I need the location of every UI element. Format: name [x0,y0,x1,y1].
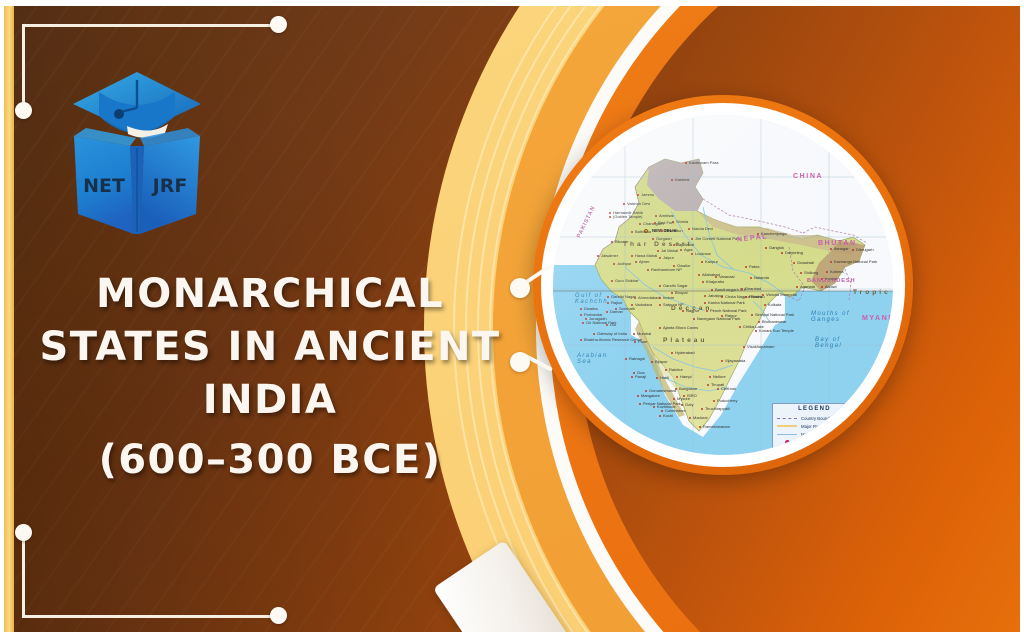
map-city-marker [609,216,611,218]
map-city-marker [580,314,582,316]
map-country-label: CHINA [793,173,823,180]
map-city-marker [683,395,685,397]
map-city-marker [623,203,625,205]
map-city-marker [689,417,691,419]
map-city-marker [582,322,584,324]
map-city-marker [661,230,663,232]
legend-heading: LEGEND [776,406,853,412]
map-city-marker [693,318,695,320]
map-city-label: Mumbai [637,331,651,336]
map-city-label: Madurai [693,415,707,420]
map-city-marker [593,333,595,335]
map-city-marker [781,252,783,254]
map-city-label: Agra [684,247,692,252]
map-city-label: Taj Mahal [677,242,694,247]
map-city-label: Ooty [685,402,693,407]
map-region-label: Thar Desert [623,241,693,248]
map-city-label: Lucknow [695,251,711,256]
map-city-marker [585,318,587,320]
map-city-label: Jaisalmer [601,253,618,258]
map-city-label: Hampi [680,374,692,379]
map-city-label: Visakhapatnam [747,344,775,349]
map-city-label: Bhubaneswar [762,319,786,324]
map-city-marker [711,289,713,291]
map-city-marker [647,269,649,271]
map-city-label: Karakoram Pass [689,160,719,165]
map-country-label: BHUTAN [818,240,857,247]
map-city-label: Itanagar [834,246,849,251]
map-city-label: Ajmer [639,259,649,264]
map-city-marker [721,360,723,362]
map-capital-marker [644,229,648,233]
map-city-marker [707,384,709,386]
map-city-marker [607,296,609,298]
map-sea-label: Bay of Bengal [815,337,859,349]
page-title: MONARCHICAL STATES IN ANCIENT INDIA (600… [18,268,522,487]
title-line-2: STATES IN ANCIENT [18,321,522,374]
map-city-label: Bikaner [615,239,629,244]
map-city-marker [659,257,661,259]
map-city-marker [639,223,641,225]
map-city-label: Somnath [619,306,635,311]
legend-item: Major City [776,439,853,447]
map-city-label: Nellore [713,374,726,379]
map-city-label: Ahmedabad [638,295,660,300]
map-sea-label: Arabian Sea [577,353,621,365]
map-city-marker [613,263,615,265]
map-city-marker [681,404,683,406]
map-city-label: Tirupati [711,382,724,387]
map-city-marker [765,247,767,249]
map-city-label: Indore [663,295,674,300]
map-city-marker [821,286,823,288]
map-city-marker [758,321,760,323]
map-city-marker [739,326,741,328]
map-city-marker [606,324,608,326]
map-city-label: Puducherry [717,398,737,403]
map-city-label: Patna [749,264,759,269]
map-city-label: Dehradun [665,228,683,233]
map-city-label: Amritsar [659,213,674,218]
map-city-label: Porbandar [584,312,603,317]
map-city-label: Darjeeling [785,250,803,255]
map-city-marker [659,415,661,417]
map-city-marker [633,372,635,374]
map-city-label: Varanasi [719,274,735,279]
left-gold-strip [4,6,14,632]
map-city-label: Bangalore [679,386,697,391]
map-city-marker [611,241,613,243]
map-city-label: Bijapur [655,359,667,364]
map-city-label: Panaji [635,374,646,379]
map-city-marker [764,304,766,306]
map-city-label: Satpura NP [663,302,684,307]
legend-rows: Country BoundaryMajor RoadMajor RiverMaj… [776,414,853,455]
map-city-label: Jal Mahal [661,248,678,253]
map-city-label: Nanda Devi [692,226,713,231]
map-legend: LEGEND Country BoundaryMajor RoadMajor R… [772,403,857,455]
map-city-marker [672,221,674,223]
map-city-label: Coimbatore [665,408,686,413]
map-city-marker [757,233,759,235]
map-city-label: Bhopal [675,290,687,295]
map-city-label: Gomateshwara [649,388,676,393]
map-city-marker [721,315,723,317]
map-city-label: Chilka Lake [743,324,764,329]
map-city-marker [659,285,661,287]
map-city-marker [745,296,747,298]
map-city-label: Imphal [825,276,837,281]
map-city-label: Dhanbad [745,286,761,291]
map-city-label: Simlipal National Park [755,312,794,317]
map-city-label: Allahabad [702,272,720,277]
title-line-1: MONARCHICAL [18,268,522,321]
map-city-label: Konark Sun Temple [759,328,794,333]
title-line-3: INDIA [18,374,522,427]
legend-key-magenta-dot-icon [776,440,798,445]
map-city-label: Gurgaon [656,236,672,241]
map-city-label: (Golden Temple) [613,214,643,219]
map-city-marker [676,376,678,378]
map-city-marker [721,296,723,298]
map-city-label: Guru Shikhar [615,278,639,283]
map-city-marker [637,194,639,196]
map-city-label: Goa [637,370,645,375]
map-city-label: Vadodara [635,302,652,307]
map-city-marker [609,212,611,214]
map-city-label: Hyderabad [675,350,695,355]
map-city-label: Ranchi [749,294,761,299]
legend-item-label: Other City [801,448,820,453]
map-city-marker [631,376,633,378]
map-city-label: Kohima [830,269,844,274]
map-city-label: Guwahati [797,260,814,265]
map-city-label: Vijayawada [725,358,745,363]
map-city-label: Jim Corbett National Park [695,236,741,241]
map-city-marker [704,302,706,304]
legend-key-dashed-line-icon [776,418,798,419]
map-country-label: MYANMAR [862,315,893,322]
map-city-label: Nalanda [754,275,769,280]
map-city-label: Agartala [800,284,815,289]
map-city-marker [659,297,661,299]
map-city-marker [685,162,687,164]
map-city-marker [606,311,608,313]
map-city-marker [755,330,757,332]
map-city-label: Ranthambore NP [651,267,682,272]
map-city-label: Dibrugarh [856,247,874,252]
map-city-label: Gateway of India [597,331,627,336]
map-city-label: Shimla [676,219,688,224]
map-city-label: Diu [610,322,616,327]
map-city-marker [634,341,636,343]
map-city-marker [671,292,673,294]
map-city-marker [631,255,633,257]
map-city-label: Jaipur [663,255,674,260]
map-city-marker [645,390,647,392]
map-city-marker [691,238,693,240]
map-city-marker [615,308,617,310]
map-city-label: Periyar National Park [643,401,681,406]
map-city-marker [743,346,745,348]
map-city-marker [580,339,582,341]
map-city-label: Tiruchirappalli [705,406,730,411]
map-city-marker [675,388,677,390]
map-city-label: Kanpur [705,259,718,264]
map-city-marker [659,304,661,306]
map-city-marker [680,249,682,251]
legend-key-road-line-icon [776,425,798,427]
map-city-marker [634,297,636,299]
map-city-label: Vaishno Devi [627,201,650,206]
map-city-marker [701,261,703,263]
map-city-marker [673,265,675,267]
map-city-marker [665,369,667,371]
map-city-marker [652,238,654,240]
map-city-label: Mangalore [641,393,660,398]
map-country-label: BANGLADESH [807,278,855,284]
map-city-marker [741,288,743,290]
map-city-marker [607,302,609,304]
map-city-marker [702,281,704,283]
map-city-marker [671,179,673,181]
map-city-marker [750,277,752,279]
map-city-marker [625,358,627,360]
legend-item: Major River [776,430,853,438]
map-city-marker [691,253,693,255]
map-city-marker [698,274,700,276]
map-city-marker [654,222,656,224]
map-city-marker [699,426,701,428]
map-city-marker [597,255,599,257]
legend-item-label: Major River [801,432,823,437]
legend-item: Country Boundary [776,414,853,422]
map-city-label: Kozhikode [657,404,676,409]
legend-key-river-line-icon [776,434,798,435]
logo-text-jrf: JRF [151,175,188,197]
map-city-label: Gandhi Sagar [663,283,688,288]
map-city-marker [704,295,706,297]
map-city-label: Bathinda [635,229,651,234]
map-city-label: Gwalior [677,263,691,268]
magnifier-lens-map[interactable]: NEW DELHIKashmirKarakoram PassJammuVaish… [553,115,893,455]
map-city-label: Harmandir Sahib [613,210,643,215]
map-city-label: Rameshwaram [703,424,730,429]
map-city-marker [580,308,582,310]
legend-item-label: Major Road [801,424,823,429]
map-city-marker [655,215,657,217]
map-city-marker [713,400,715,402]
map-city-label: ISRO [687,393,697,398]
map-city-label: Aizawl [825,284,837,289]
legend-key-white-square-icon [776,448,798,453]
title-line-4: (600–300 BCE) [18,434,522,487]
map-city-label: Navegaon National Park [697,316,740,321]
map-city-label: Ratnagiri [629,356,645,361]
bottom-left-corner-bracket [22,532,278,618]
map-city-label: Pune [638,339,647,344]
map-city-label: Victoria Memorial [766,292,797,297]
map-city-label: Gir National Park [586,320,616,325]
map-city-label: Kanchenjunga [761,231,787,236]
map-city-marker [671,352,673,354]
map-city-marker [661,410,663,412]
map-city-label: Jodhpur [617,261,631,266]
map-region-label: Tropic of Cancer [853,289,893,296]
map-city-marker [635,261,637,263]
poster-canvas: NET JRF MONARCHICAL STATES IN ANCIENT IN… [0,0,1024,640]
map-city-marker [701,408,703,410]
map-city-marker [793,262,795,264]
map-city-marker [631,304,633,306]
map-city-marker [656,377,658,379]
map-city-label: Ajanta Ellora Caves [663,325,698,330]
map-city-label: Raichur [669,367,683,372]
map-city-label: Hawa Mahal [635,253,657,258]
map-city-marker [659,327,661,329]
map-city-marker [800,272,802,274]
map-city-label: Junagadh [589,316,607,321]
legend-item: Major Road [776,422,853,430]
map-city-marker [796,286,798,288]
map-city-marker [682,310,684,312]
map-city-marker [762,294,764,296]
map-city-label: Pench National Park [710,308,746,313]
map-city-marker [830,261,832,263]
map-city-marker [639,403,641,405]
map-city-marker [717,388,719,390]
map-city-label: Khajuraho [706,279,724,284]
net-jrf-graduation-logo: NET JRF [66,64,208,242]
map-city-marker [821,278,823,280]
poster-inner-frame: NET JRF MONARCHICAL STATES IN ANCIENT IN… [4,6,1020,632]
logo-text-net: NET [83,175,125,197]
map-city-marker [751,314,753,316]
map-city-marker [826,271,828,273]
map-country-label: NEPAL [737,233,769,243]
map-city-marker [673,398,675,400]
map-region-label: Plateau [663,337,707,344]
map-city-label: Shillong [804,270,818,275]
map-city-marker [715,276,717,278]
legend-item-label: Country Boundary [801,416,836,421]
map-city-label: Kashmir [675,177,690,182]
map-city-label: NEW DELHI [652,228,677,233]
legend-item-label: Major City [801,440,820,445]
map-city-label: Gangtok [769,245,784,250]
map-city-label: Rajkot [611,300,622,305]
map-city-marker [688,228,690,230]
map-city-marker [709,376,711,378]
map-city-marker [830,248,832,250]
map-city-label: Kochi [663,413,673,418]
map-city-marker [631,231,633,233]
map-city-label: Dwarka [584,306,598,311]
map-city-marker [651,361,653,363]
map-city-marker [657,250,659,252]
legend-item: Other City [776,447,853,455]
map-city-marker [673,244,675,246]
map-city-label: Hubli [660,375,669,380]
map-sea-label: Gulf of Kachchh [575,293,619,305]
map-country-label: PAKISTAN [576,205,597,239]
map-city-marker [637,395,639,397]
map-city-marker [706,310,708,312]
map-city-label: Chennai [721,386,736,391]
map-city-marker [653,406,655,408]
map-city-marker [745,266,747,268]
map-city-label: Nagpur [686,308,699,313]
map-city-label: Kanha National Park [708,300,745,305]
map-city-label: Kolkata [768,302,781,307]
map-city-marker [852,249,854,251]
map-city-label: Kaziranga National Park [834,259,877,264]
map-city-marker [611,280,613,282]
map-city-label: Jammu [641,192,654,197]
map-city-marker [633,333,635,335]
map-city-label: Gandhi Nagar [611,294,636,299]
map-city-label: Raipur [725,313,737,318]
map-sea-label: Mouths of Ganges [811,311,855,323]
